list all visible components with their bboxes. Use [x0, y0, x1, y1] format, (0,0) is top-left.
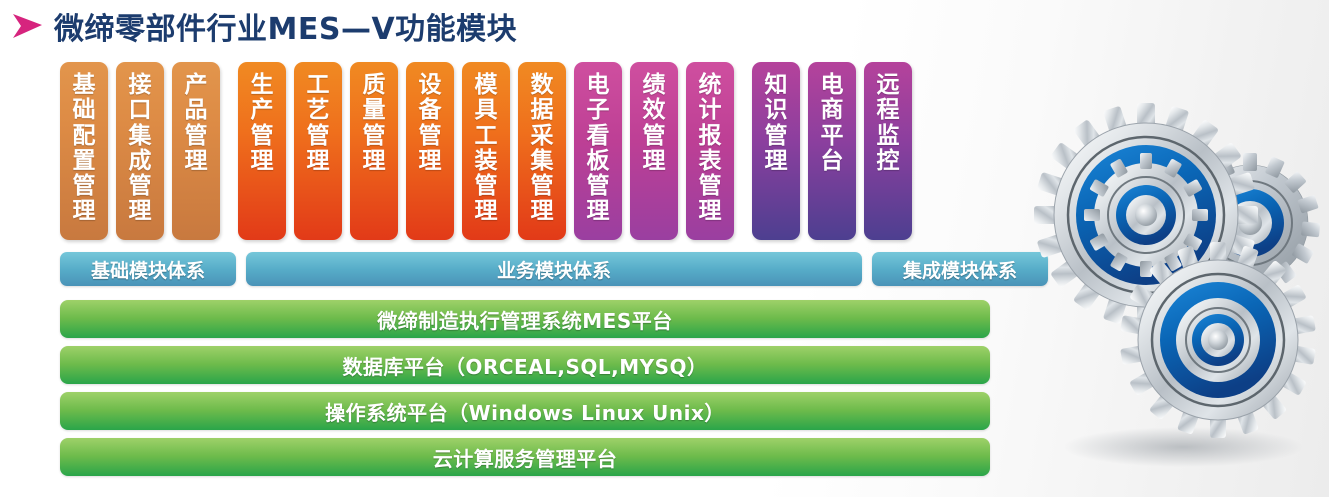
- module-label-char: 理: [531, 199, 554, 224]
- module-label-char: 工: [475, 124, 498, 149]
- module-label-char: 模: [475, 73, 498, 98]
- module-label-char: 配: [73, 124, 96, 149]
- module-label-char: 数: [531, 73, 554, 98]
- module-label-char: 质: [363, 73, 386, 98]
- module-label-char: 管: [251, 124, 274, 149]
- module-label-char: 监: [877, 124, 900, 149]
- module-label-char: 控: [877, 149, 900, 174]
- module-label-char: 管: [419, 124, 442, 149]
- module-label-char: 管: [765, 124, 788, 149]
- module-column-15[interactable]: 远程监控: [864, 62, 912, 240]
- diagram-canvas: 微缔零部件行业MES—V功能模块 基础配置管理接口集成管理产品管理生产管理工艺管…: [0, 0, 1329, 497]
- module-column-3[interactable]: 产品管理: [172, 62, 220, 240]
- module-label-char: 统: [699, 73, 722, 98]
- module-label-char: 理: [643, 149, 666, 174]
- page-title: 微缔零部件行业MES—V功能模块: [54, 4, 517, 48]
- module-column-9[interactable]: 数据采集管理: [518, 62, 566, 240]
- module-label-char: 品: [185, 98, 208, 123]
- module-label-char: 管: [475, 174, 498, 199]
- platform-bar-mes[interactable]: 微缔制造执行管理系统MES平台: [60, 300, 990, 338]
- module-label-char: 管: [185, 124, 208, 149]
- module-label-char: 商: [821, 98, 844, 123]
- module-label-char: 量: [363, 98, 386, 123]
- module-label-char: 表: [699, 149, 722, 174]
- module-label-char: 产: [251, 98, 274, 123]
- module-label-char: 管: [531, 174, 554, 199]
- module-column-12[interactable]: 统计报表管理: [686, 62, 734, 240]
- module-label-char: 理: [699, 199, 722, 224]
- module-label-char: 理: [307, 149, 330, 174]
- arrow-right-icon: [8, 9, 48, 43]
- module-label-char: 理: [587, 199, 610, 224]
- module-label-char: 理: [475, 199, 498, 224]
- module-label-char: 装: [475, 149, 498, 174]
- system-bar-basic[interactable]: 基础模块体系: [60, 252, 236, 286]
- module-label-char: 采: [531, 124, 554, 149]
- module-label-char: 工: [307, 73, 330, 98]
- module-label-char: 管: [129, 174, 152, 199]
- module-column-11[interactable]: 绩效管理: [630, 62, 678, 240]
- module-label-char: 看: [587, 124, 610, 149]
- platform-bar-cloud[interactable]: 云计算服务管理平台: [60, 438, 990, 476]
- module-label-char: 管: [307, 124, 330, 149]
- module-column-2[interactable]: 接口集成管理: [116, 62, 164, 240]
- module-column-6[interactable]: 质量管理: [350, 62, 398, 240]
- module-column-group: 基础配置管理接口集成管理产品管理生产管理工艺管理质量管理设备管理模具工装管理数据…: [60, 62, 990, 240]
- title-row: 微缔零部件行业MES—V功能模块: [0, 2, 517, 50]
- module-label-char: 程: [877, 98, 900, 123]
- module-label-char: 置: [73, 149, 96, 174]
- module-label-char: 备: [419, 98, 442, 123]
- platform-bar-database[interactable]: 数据库平台（ORCEAL,SQL,MYSQ）: [60, 346, 990, 384]
- system-bar-integration[interactable]: 集成模块体系: [872, 252, 1048, 286]
- module-label-char: 管: [587, 174, 610, 199]
- module-label-char: 管: [73, 174, 96, 199]
- module-column-14[interactable]: 电商平台: [808, 62, 856, 240]
- module-column-7[interactable]: 设备管理: [406, 62, 454, 240]
- module-column-4[interactable]: 生产管理: [238, 62, 286, 240]
- module-label-char: 艺: [307, 98, 330, 123]
- module-label-char: 成: [129, 149, 152, 174]
- module-label-char: 效: [643, 98, 666, 123]
- system-bar-business[interactable]: 业务模块体系: [246, 252, 862, 286]
- module-column-1[interactable]: 基础配置管理: [60, 62, 108, 240]
- module-label-char: 基: [73, 73, 96, 98]
- module-label-char: 报: [699, 124, 722, 149]
- three-gears-illustration: [1028, 95, 1328, 485]
- module-label-char: 具: [475, 98, 498, 123]
- module-label-char: 理: [185, 149, 208, 174]
- module-label-char: 识: [765, 98, 788, 123]
- module-column-10[interactable]: 电子看板管理: [574, 62, 622, 240]
- module-label-char: 平: [821, 124, 844, 149]
- module-label-char: 台: [821, 149, 844, 174]
- module-label-char: 理: [419, 149, 442, 174]
- module-label-char: 计: [699, 98, 722, 123]
- module-label-char: 板: [587, 149, 610, 174]
- module-label-char: 电: [587, 73, 610, 98]
- module-label-char: 生: [251, 73, 274, 98]
- platform-bar-os[interactable]: 操作系统平台（Windows Linux Unix）: [60, 392, 990, 430]
- module-label-char: 理: [765, 149, 788, 174]
- module-label-char: 集: [531, 149, 554, 174]
- module-label-char: 础: [73, 98, 96, 123]
- module-label-char: 子: [587, 98, 610, 123]
- module-label-char: 管: [643, 124, 666, 149]
- module-label-char: 据: [531, 98, 554, 123]
- module-label-char: 理: [73, 199, 96, 224]
- platform-bar-group: 微缔制造执行管理系统MES平台数据库平台（ORCEAL,SQL,MYSQ）操作系…: [60, 300, 990, 484]
- module-label-char: 口: [129, 98, 152, 123]
- module-label-char: 远: [877, 73, 900, 98]
- module-label-char: 理: [129, 199, 152, 224]
- module-label-char: 产: [185, 73, 208, 98]
- module-column-13[interactable]: 知识管理: [752, 62, 800, 240]
- module-label-char: 绩: [643, 73, 666, 98]
- module-column-5[interactable]: 工艺管理: [294, 62, 342, 240]
- system-bar-group: 基础模块体系 业务模块体系 集成模块体系: [60, 252, 990, 286]
- module-label-char: 集: [129, 124, 152, 149]
- module-label-char: 理: [363, 149, 386, 174]
- module-label-char: 电: [821, 73, 844, 98]
- module-label-char: 知: [765, 73, 788, 98]
- module-column-8[interactable]: 模具工装管理: [462, 62, 510, 240]
- module-label-char: 设: [419, 73, 442, 98]
- module-label-char: 接: [129, 73, 152, 98]
- module-label-char: 理: [251, 149, 274, 174]
- module-label-char: 管: [363, 124, 386, 149]
- module-label-char: 管: [699, 174, 722, 199]
